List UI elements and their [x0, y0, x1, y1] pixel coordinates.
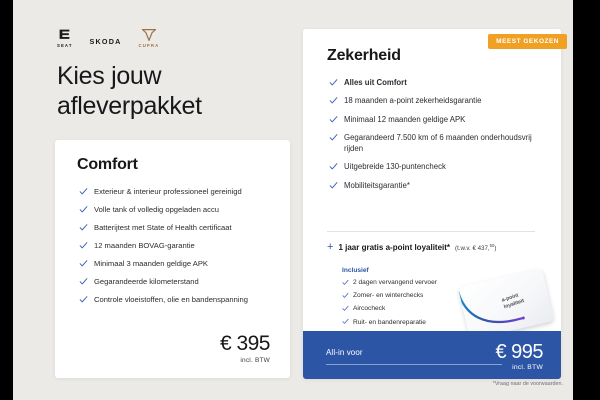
list-item-label: 18 maanden a-point zekerheidsgarantie	[344, 96, 481, 105]
list-item-label: Minimaal 3 maanden geldige APK	[94, 259, 208, 268]
check-icon	[329, 133, 338, 142]
list-item-label: Controle vloeistoffen, olie en bandenspa…	[94, 295, 248, 304]
comfort-title: Comfort	[77, 156, 138, 174]
check-icon	[342, 279, 349, 286]
brand-logo-row: SEAT SKODA CUPRA	[57, 28, 159, 48]
included-label: Inclusief	[342, 267, 369, 274]
loyalty-value-suffix: )	[494, 245, 496, 252]
list-item: Uitgebreide 130-puntencheck	[329, 161, 535, 172]
list-item-label: Batterijtest met State of Health certifi…	[94, 223, 232, 232]
zekerheid-price-note: incl. BTW	[495, 364, 543, 371]
page-title: Kies jouw afleverpakket	[57, 62, 287, 121]
list-item-label: Ruit- en bandenreparatie	[353, 319, 426, 326]
seat-logo-word: SEAT	[57, 43, 73, 48]
allin-label: All-in voor	[326, 348, 363, 357]
comfort-price-note: incl. BTW	[220, 357, 270, 364]
check-icon	[79, 259, 88, 268]
comfort-price: € 395	[220, 332, 270, 356]
zekerheid-feature-list: Alles uit Comfort18 maanden a-point zeke…	[329, 77, 535, 198]
status-badge-most-chosen: MEEST GEKOZEN	[488, 34, 567, 49]
zekerheid-price-block: € 995 incl. BTW	[495, 341, 543, 371]
list-item-label: Uitgebreide 130-puntencheck	[344, 162, 446, 171]
list-item: 18 maanden a-point zekerheidsgarantie	[329, 95, 535, 106]
check-icon	[342, 292, 349, 299]
check-icon	[79, 205, 88, 214]
zekerheid-price: € 995	[495, 341, 543, 364]
package-card-zekerheid[interactable]: MEEST GEKOZEN Zekerheid Alles uit Comfor…	[303, 29, 561, 379]
list-item-label: 2 dagen vervangend vervoer	[353, 279, 437, 286]
list-item: Minimaal 3 maanden geldige APK	[79, 258, 275, 269]
allin-rule	[326, 364, 502, 365]
list-item: Ruit- en bandenreparatie	[342, 318, 472, 327]
check-icon	[329, 181, 338, 190]
list-item: Gegarandeerd 7.500 km of 6 maanden onder…	[329, 132, 535, 155]
check-icon	[329, 115, 338, 124]
loyalty-card-graphic: a-point loyaliteit	[458, 268, 554, 340]
check-icon	[342, 305, 349, 312]
check-icon	[79, 223, 88, 232]
page-canvas: SEAT SKODA CUPRA Kies jouw afleverpakket…	[13, 0, 573, 400]
list-item-label: Exterieur & interieur professioneel gere…	[94, 187, 242, 196]
list-item-label: Gegarandeerde kilometerstand	[94, 277, 199, 286]
list-item-label: Alles uit Comfort	[344, 78, 407, 87]
cupra-logo-word: CUPRA	[139, 43, 160, 48]
list-item: Gegarandeerde kilometerstand	[79, 276, 275, 287]
list-item-label: Aircocheck	[353, 305, 385, 312]
list-item: Controle vloeistoffen, olie en bandenspa…	[79, 294, 275, 305]
loyalty-title: 1 jaar gratis a-point loyaliteit*	[338, 243, 450, 252]
list-item: Alles uit Comfort	[329, 77, 535, 88]
cupra-logo: CUPRA	[139, 29, 160, 48]
list-item: Batterijtest met State of Health certifi…	[79, 222, 275, 233]
seat-logo: SEAT	[57, 28, 73, 48]
check-icon	[79, 295, 88, 304]
check-icon	[329, 162, 338, 171]
check-icon	[79, 187, 88, 196]
check-icon	[79, 277, 88, 286]
list-item: 2 dagen vervangend vervoer	[342, 278, 472, 287]
list-item: Aircocheck	[342, 304, 472, 313]
list-item: Minimaal 12 maanden geldige APK	[329, 114, 535, 125]
list-item: Exterieur & interieur professioneel gere…	[79, 186, 275, 197]
skoda-logo: SKODA	[90, 37, 122, 48]
list-item: Mobiliteitsgarantie*	[329, 180, 535, 191]
plus-icon: +	[327, 242, 333, 253]
list-item-label: Zomer- en winterchecks	[353, 292, 423, 299]
zekerheid-title: Zekerheid	[327, 47, 401, 65]
comfort-price-block: € 395 incl. BTW	[220, 332, 270, 364]
comfort-feature-list: Exterieur & interieur professioneel gere…	[79, 186, 275, 312]
list-item-label: Minimaal 12 maanden geldige APK	[344, 115, 465, 124]
list-item: 12 maanden BOVAG-garantie	[79, 240, 275, 251]
check-icon	[79, 241, 88, 250]
loyalty-value: (t.w.v. € 437,50)	[455, 243, 496, 252]
loyalty-value-prefix: (t.w.v. € 437,	[455, 245, 490, 252]
list-item-label: 12 maanden BOVAG-garantie	[94, 241, 195, 250]
cupra-mark-icon	[142, 29, 156, 41]
list-item: Volle tank of volledig opgeladen accu	[79, 204, 275, 215]
skoda-logo-word: SKODA	[90, 37, 122, 46]
allin-price-bar: All-in voor € 995 incl. BTW	[303, 331, 561, 379]
list-item-label: Mobiliteitsgarantie*	[344, 181, 410, 190]
list-item-label: Volle tank of volledig opgeladen accu	[94, 205, 219, 214]
check-icon	[342, 318, 349, 325]
seat-mark-icon	[58, 28, 71, 41]
footnote: *Vraag naar de voorwaarden.	[493, 381, 563, 387]
check-icon	[329, 78, 338, 87]
package-card-comfort[interactable]: Comfort Exterieur & interieur profession…	[55, 140, 290, 378]
check-icon	[329, 96, 338, 105]
list-item: Zomer- en winterchecks	[342, 291, 472, 300]
loyalty-included-list: 2 dagen vervangend vervoerZomer- en wint…	[342, 278, 472, 331]
list-item-label: Gegarandeerd 7.500 km of 6 maanden onder…	[344, 133, 532, 153]
card-divider	[327, 231, 535, 232]
loyalty-header: + 1 jaar gratis a-point loyaliteit* (t.w…	[327, 242, 542, 253]
